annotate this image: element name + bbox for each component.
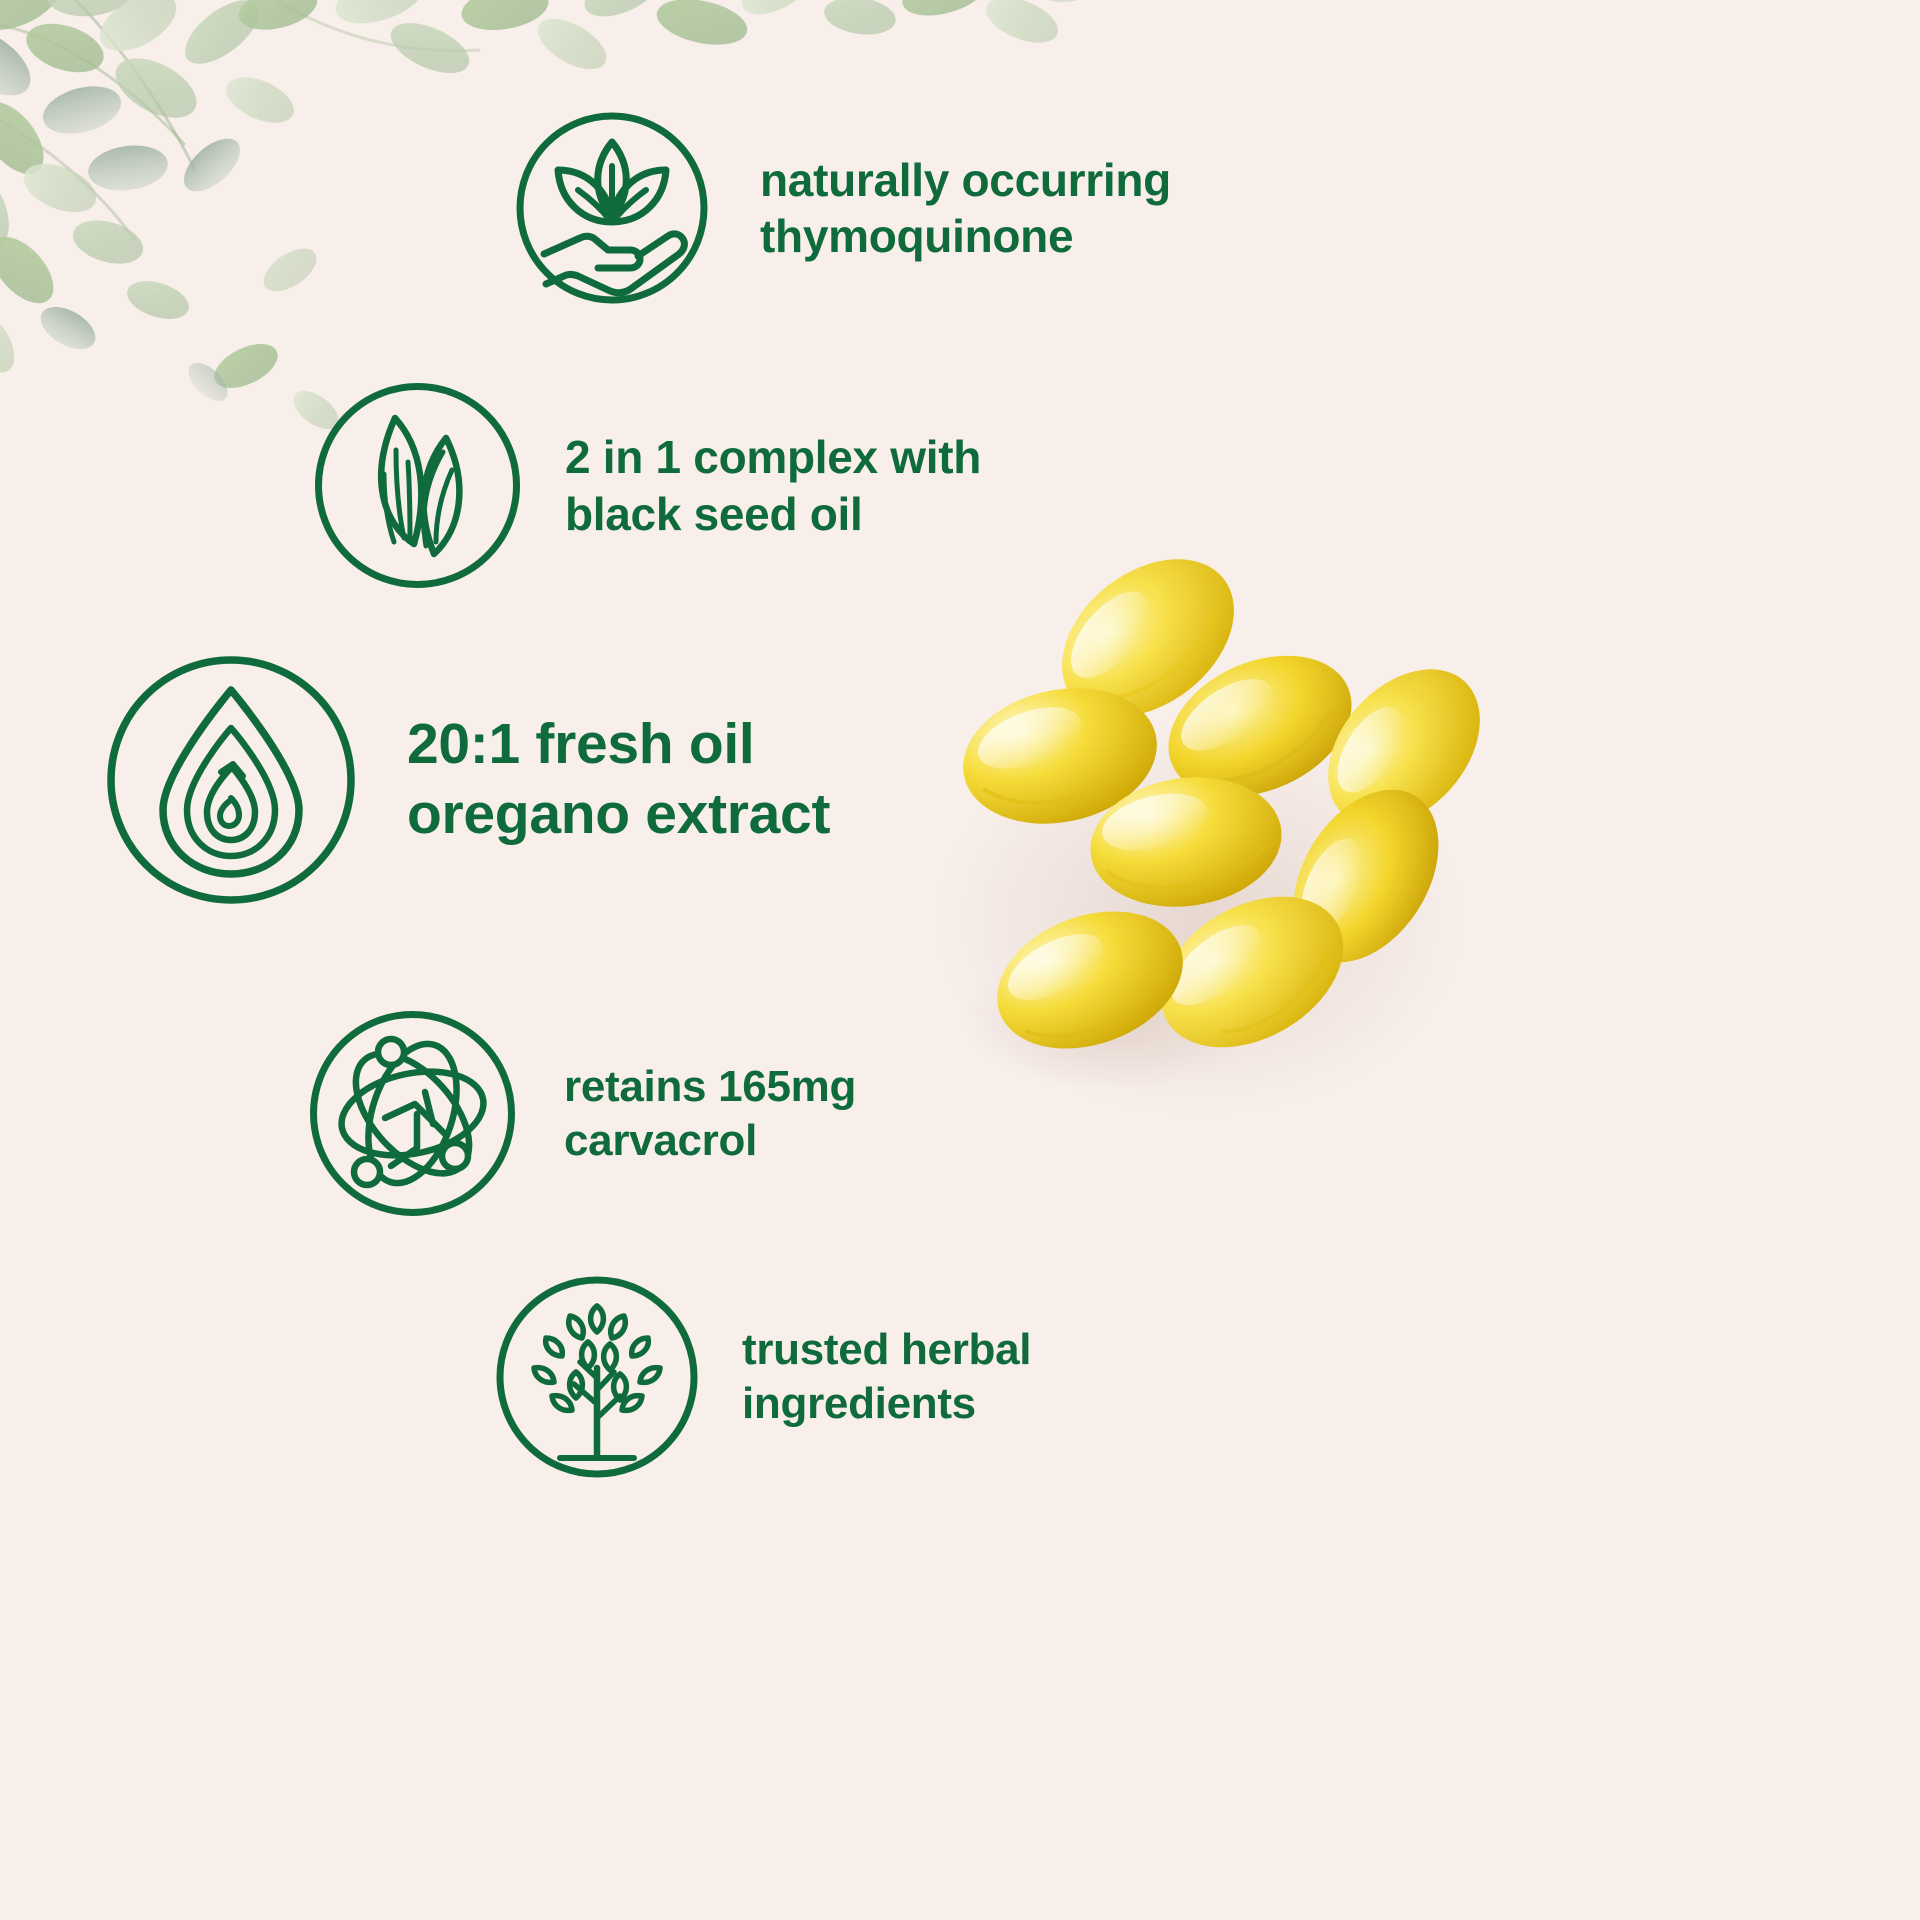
feature-1-label: naturally occurring thymoquinone — [760, 152, 1171, 264]
feature-row-1: naturally occurring thymoquinone — [512, 108, 1171, 308]
tree-icon — [492, 1272, 702, 1482]
feature-row-5: trusted herbal ingredients — [492, 1272, 1031, 1482]
plant-in-hand-icon — [512, 108, 712, 308]
feature-3-label: 20:1 fresh oil oregano extract — [407, 710, 830, 849]
feature-2-icon-wrap — [310, 378, 525, 593]
feature-5-icon-wrap — [492, 1272, 702, 1482]
oil-droplet-icon — [103, 652, 359, 908]
black-seed-icon — [310, 378, 525, 593]
feature-row-2: 2 in 1 complex with black seed oil — [310, 378, 981, 593]
feature-row-4: retains 165mg carvacrol — [305, 1006, 856, 1221]
feature-4-icon-wrap — [305, 1006, 520, 1221]
yellow-softgel-capsules — [900, 520, 1520, 1160]
feature-4-label: retains 165mg carvacrol — [564, 1060, 856, 1167]
infographic-canvas: naturally occurring thymoquinone 2 in 1 … — [0, 0, 1920, 1920]
feature-1-icon-wrap — [512, 108, 712, 308]
feature-row-3: 20:1 fresh oil oregano extract — [103, 652, 830, 908]
atom-molecule-icon — [305, 1006, 520, 1221]
feature-3-icon-wrap — [103, 652, 359, 908]
feature-5-label: trusted herbal ingredients — [742, 1323, 1031, 1430]
